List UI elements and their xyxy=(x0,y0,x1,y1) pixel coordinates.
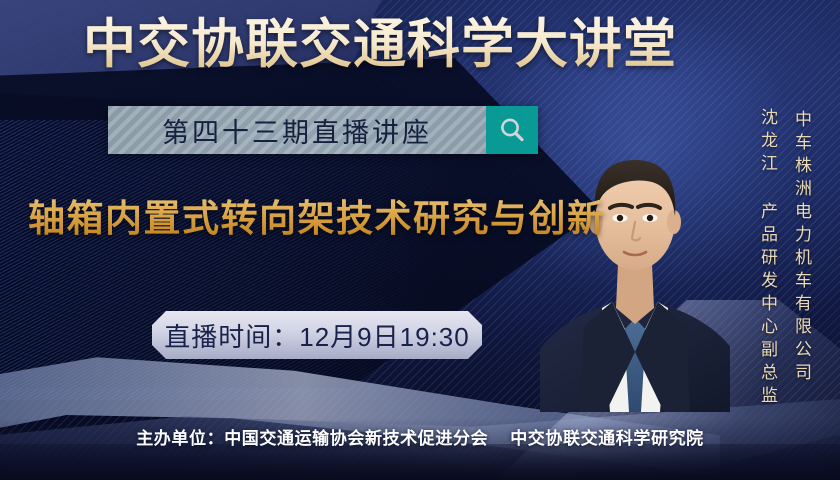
organizer-label: 主办单位： xyxy=(136,429,224,448)
episode-banner: 第四十三期直播讲座 xyxy=(108,106,538,154)
speaker-company: 中车株洲电力机车有限公司 xyxy=(789,110,814,386)
background-bottom-bar xyxy=(0,444,840,480)
organizer-primary: 中国交通运输协会新技术促进分会 xyxy=(224,429,488,448)
broadcast-time-badge: 直播时间：12月9日19:30 xyxy=(152,311,482,359)
speaker-portrait xyxy=(540,112,730,412)
search-button[interactable] xyxy=(486,106,538,154)
organizer-secondary: 中交协联交通科学研究院 xyxy=(510,429,704,448)
broadcast-time-text: 直播时间：12月9日19:30 xyxy=(164,317,469,354)
episode-plate: 第四十三期直播讲座 xyxy=(108,106,486,154)
speaker-name-and-title: 沈龙江 产品研发中心副总监 xyxy=(755,108,780,409)
page-title: 中交协联交通科学大讲堂 xyxy=(0,14,760,76)
poster-canvas: 中交协联交通科学大讲堂 第四十三期直播讲座 轴箱内置式转向架技术研究与创新 直播… xyxy=(0,0,840,480)
episode-label: 第四十三期直播讲座 xyxy=(162,111,432,150)
search-icon xyxy=(497,115,527,145)
organizer-footer: 主办单位：中国交通运输协会新技术促进分会中交协联交通科学研究院 xyxy=(0,424,840,449)
lecture-topic-title: 轴箱内置式转向架技术研究与创新 xyxy=(28,196,606,242)
